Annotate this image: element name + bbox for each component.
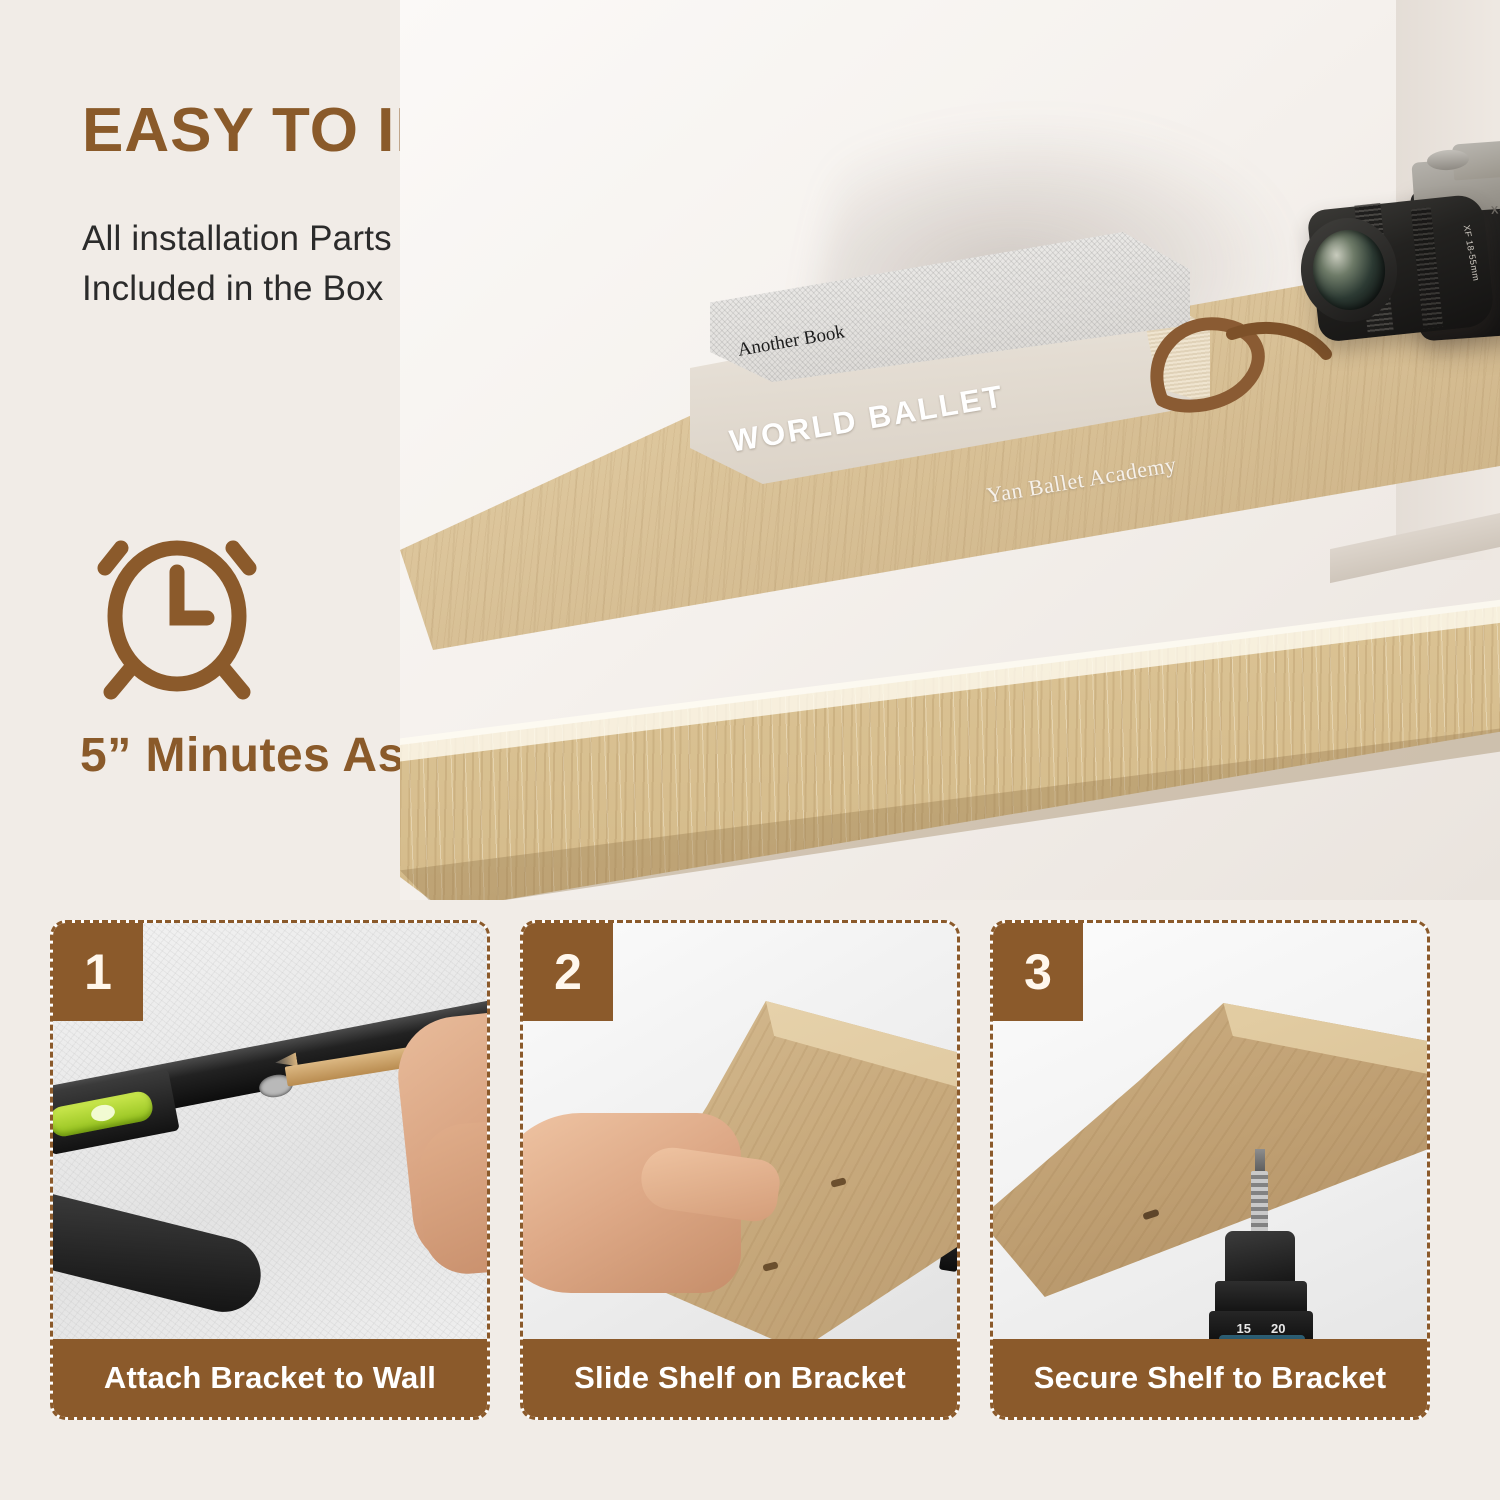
hero-subhead: All installation Parts are Included in t…: [82, 214, 453, 313]
step-panel-3[interactable]: 15 20 3 Secure Shelf to Bracket: [990, 920, 1430, 1420]
step-number-badge-3: 3: [993, 923, 1083, 1021]
step-caption-3: Secure Shelf to Bracket: [993, 1339, 1427, 1417]
drill-mark-15: 15: [1237, 1321, 1251, 1336]
alarm-clock-icon: [85, 510, 270, 700]
hero-section: EASY TO INSTALL All installation Parts a…: [0, 0, 1500, 900]
step-number-badge-1: 1: [53, 923, 143, 1021]
camera: X-T3 XF 18-55mm: [1295, 130, 1500, 395]
installation-steps: 1 Attach Bracket to Wall 2 Slide Shelf o…: [0, 900, 1500, 1500]
step-caption-1: Attach Bracket to Wall: [53, 1339, 487, 1417]
step-caption-2: Slide Shelf on Bracket: [523, 1339, 957, 1417]
hero-subhead-line1: All installation Parts are: [82, 214, 453, 264]
camera-model-text: X-T3: [1491, 203, 1500, 217]
product-scene: WORLD BALLET Yan Ballet Academy Another …: [400, 0, 1500, 900]
step-number-badge-2: 2: [523, 923, 613, 1021]
hero-subhead-line2: Included in the Box: [82, 264, 453, 314]
drill-chuck: [1225, 1231, 1295, 1287]
step-panel-2[interactable]: 2 Slide Shelf on Bracket: [520, 920, 960, 1420]
drill-mark-20: 20: [1271, 1321, 1285, 1336]
drill-bit: [1251, 1171, 1268, 1237]
step-panel-1[interactable]: 1 Attach Bracket to Wall: [50, 920, 490, 1420]
drill-collar: [1215, 1281, 1307, 1315]
